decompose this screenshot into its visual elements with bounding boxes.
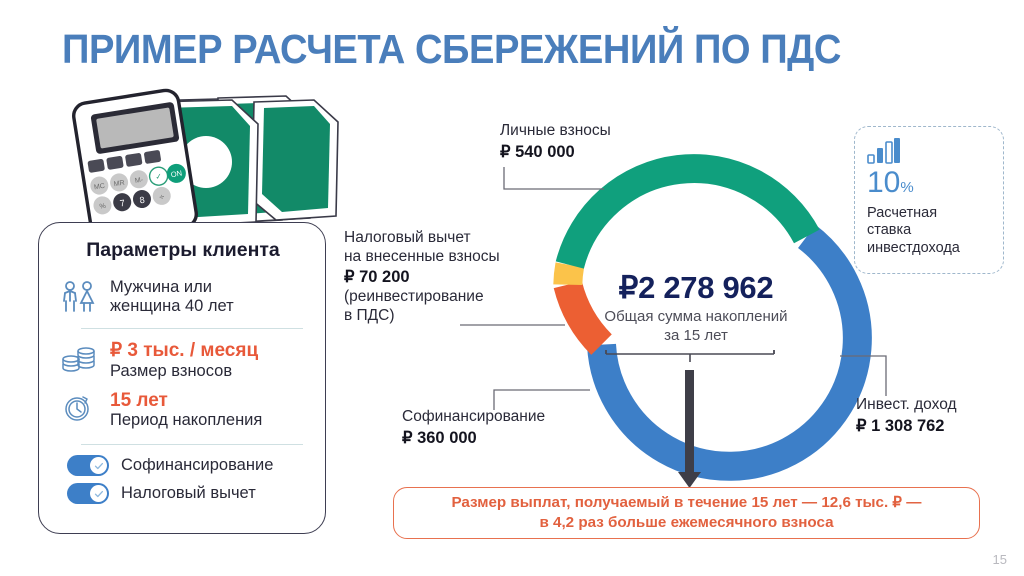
svg-text:%: % bbox=[99, 203, 106, 211]
callout-invest-name: Инвест. доход bbox=[856, 396, 1024, 415]
callout-personal-name: Личные взносы bbox=[500, 122, 730, 141]
slide-root: ПРИМЕР РАСЧЕТА СБЕРЕЖЕНИЙ ПО ПДС bbox=[0, 0, 1024, 576]
investment-rate-card: 10% Расчетнаяставкаинвестдохода bbox=[854, 126, 1004, 274]
param-row-age: Мужчина или женщина 40 лет bbox=[59, 277, 307, 317]
callout-personal-contributions: Личные взносы ₽ 540 000 bbox=[500, 122, 730, 209]
param-row-contribution: ₽ 3 тыс. / месяц Размер взносов bbox=[59, 339, 307, 380]
callout-cofinance-value: ₽ 360 000 bbox=[402, 427, 632, 449]
svg-text:ON: ON bbox=[170, 169, 183, 180]
card-divider-1 bbox=[81, 328, 303, 329]
callout-tax-sub-1: (реинвестирование bbox=[344, 288, 559, 307]
param-texts-contribution: ₽ 3 тыс. / месяц Размер взносов bbox=[110, 339, 258, 380]
card-divider-2 bbox=[81, 444, 303, 445]
param-row-period: 15 лет Период накопления bbox=[59, 389, 307, 430]
total-caption-line1: Общая сумма накоплений bbox=[570, 308, 822, 327]
client-parameters-card: Параметры клиента Мужчина или женщина 4 bbox=[38, 222, 326, 534]
leader-line-personal bbox=[500, 165, 640, 209]
age-line-2: женщина 40 лет bbox=[110, 297, 234, 316]
callout-tax-name-2: на внесенные взносы bbox=[344, 248, 559, 267]
callout-investment-income: Инвест. доход ₽ 1 308 762 bbox=[856, 396, 1024, 437]
payout-line-2: в 4,2 раз больше ежемесячного взноса bbox=[452, 513, 922, 533]
total-caption: Общая сумма накоплений за 15 лет bbox=[570, 308, 822, 345]
clock-icon bbox=[59, 389, 99, 429]
callout-invest-value: ₽ 1 308 762 bbox=[856, 415, 1024, 437]
contribution-label: Размер взносов bbox=[110, 362, 258, 381]
svg-text:✓: ✓ bbox=[155, 172, 163, 182]
total-caption-line2: за 15 лет bbox=[570, 327, 822, 346]
page-title: ПРИМЕР РАСЧЕТА СБЕРЕЖЕНИЙ ПО ПДС bbox=[62, 26, 899, 73]
leader-line-tax bbox=[460, 318, 570, 332]
payout-line-1: Размер выплат, получаемый в течение 15 л… bbox=[452, 493, 922, 513]
contribution-amount: ₽ 3 тыс. / месяц bbox=[110, 340, 258, 361]
rate-description: Расчетнаяставкаинвестдохода bbox=[867, 205, 991, 257]
leader-line-invest bbox=[840, 352, 900, 398]
couple-icon bbox=[59, 277, 99, 317]
toggle-row-tax-deduction[interactable]: Налоговый вычет bbox=[67, 483, 307, 504]
callout-cofinancing: Софинансирование ₽ 360 000 bbox=[402, 408, 632, 449]
toggle-cofinance[interactable] bbox=[67, 455, 109, 476]
total-amount: ₽2 278 962 bbox=[576, 270, 816, 306]
period-label: Период накопления bbox=[110, 411, 262, 430]
toggle-check-icon bbox=[93, 488, 105, 500]
callout-personal-value: ₽ 540 000 bbox=[500, 141, 730, 163]
param-texts-period: 15 лет Период накопления bbox=[110, 389, 262, 430]
coins-stack-icon bbox=[59, 339, 99, 379]
toggle-label-cofinance: Софинансирование bbox=[121, 456, 273, 475]
period-value: 15 лет bbox=[110, 390, 262, 411]
callout-tax-deduction: Налоговый вычет на внесенные взносы ₽ 70… bbox=[344, 229, 559, 325]
param-texts-age: Мужчина или женщина 40 лет bbox=[110, 277, 234, 316]
client-card-title: Параметры клиента bbox=[59, 239, 307, 262]
callout-tax-name-1: Налоговый вычет bbox=[344, 229, 559, 248]
rate-percentage: 10% bbox=[867, 168, 991, 198]
bar-chart-icon bbox=[867, 138, 901, 164]
age-line-1: Мужчина или bbox=[110, 278, 234, 297]
leader-line-cofinance bbox=[490, 386, 600, 412]
rate-value: 10 bbox=[867, 166, 900, 199]
toggle-check-icon bbox=[93, 460, 105, 472]
page-number: 15 bbox=[993, 552, 1007, 567]
toggle-tax-deduction[interactable] bbox=[67, 483, 109, 504]
toggle-row-cofinance[interactable]: Софинансирование bbox=[67, 455, 307, 476]
rate-suffix: % bbox=[900, 179, 913, 196]
payout-summary-box: Размер выплат, получаемый в течение 15 л… bbox=[393, 487, 980, 539]
calculator-icon: MC MR M- ✓ % 7 8 ÷ ON bbox=[72, 89, 198, 242]
toggle-label-tax-deduction: Налоговый вычет bbox=[121, 484, 256, 503]
callout-tax-value: ₽ 70 200 bbox=[344, 266, 559, 288]
donut-segment-tax bbox=[568, 265, 570, 285]
